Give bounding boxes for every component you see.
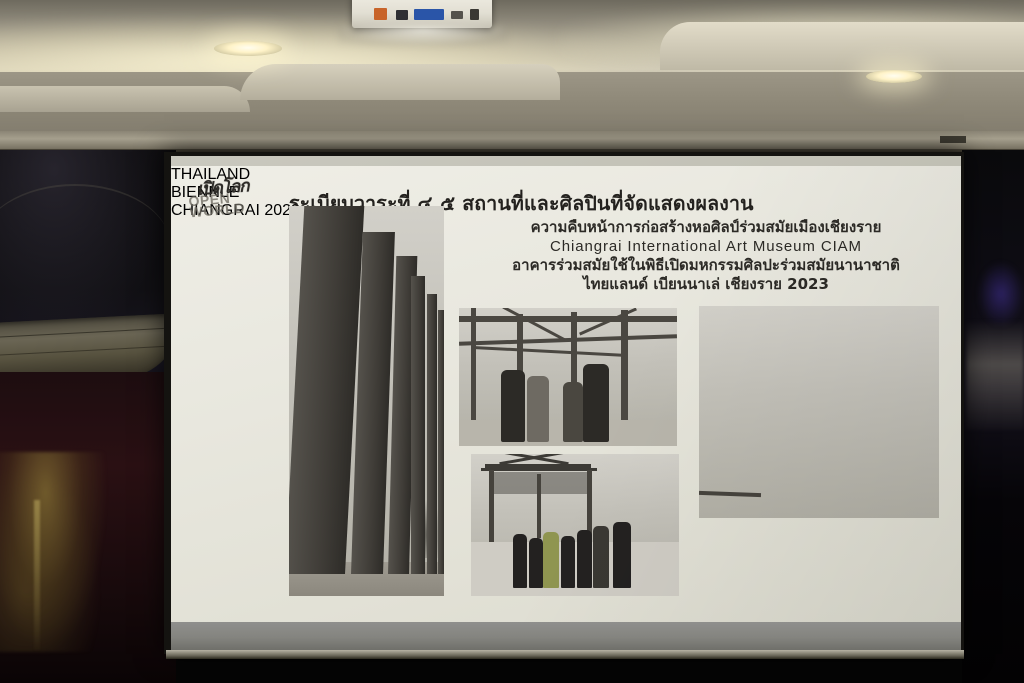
soffit-step-left [0,86,250,112]
right-curtain-valance [966,320,1024,430]
screen-roller-bracket [940,136,966,143]
projector-light-spill [338,26,508,46]
screen-lower-blank-band [171,622,961,650]
open-world-logo-english: OPEN WORLD [188,192,245,219]
downlight-icon [866,70,922,83]
downlight-icon [214,41,282,56]
gold-ornament-stem [34,500,40,650]
biennale-line-thailand: THAILAND [171,166,961,184]
slide-photo-museum [699,306,939,518]
slide-body-line-1: ความคืบหน้าการก่อสร้างหอศิลป์ร่วมสมัยเมื… [471,218,941,237]
open-world-logo: เปิดโลก OPEN WORLD [183,172,279,228]
slide-body-line-2: Chiangrai International Art Museum CIAM [471,237,941,256]
projector-port-power [374,8,387,20]
conference-room-scene: เปิดโลก OPEN WORLD ระเบียบวาระที่ ๔.๕ สถ… [0,0,1024,683]
projector-port-hdmi [396,10,408,20]
screen-bottom-rail [166,650,964,659]
projector-port-vga [414,9,444,20]
slide-body-line-3: อาคารร่วมสมัยใช้ในพิธีเปิดมหกรรมศิลปะร่ว… [471,256,941,275]
slide-photo-steel-frame [459,308,677,446]
soffit-step-right [660,22,1024,70]
projector-port-usb [470,9,479,20]
open-world-logo-line2: WORLD [189,200,246,221]
slide-photo-pavilion-group [471,454,679,596]
ceiling-projector [352,0,492,28]
curtain-swag [0,150,180,340]
slide-body: ความคืบหน้าการก่อสร้างหอศิลป์ร่วมสมัยเมื… [471,218,941,294]
soffit-step-center [240,64,560,100]
photo-sky [699,306,939,518]
right-curtain-highlight [978,262,1024,326]
projector-port-audio [451,11,463,19]
slide-body-line-4: ไทยแลนด์ เบียนนาเล่ เชียงราย 2023 [471,275,941,294]
slide-photo-louvers [289,206,444,596]
gold-ornament [0,452,108,652]
projected-slide: เปิดโลก OPEN WORLD ระเบียบวาระที่ ๔.๕ สถ… [171,166,961,622]
